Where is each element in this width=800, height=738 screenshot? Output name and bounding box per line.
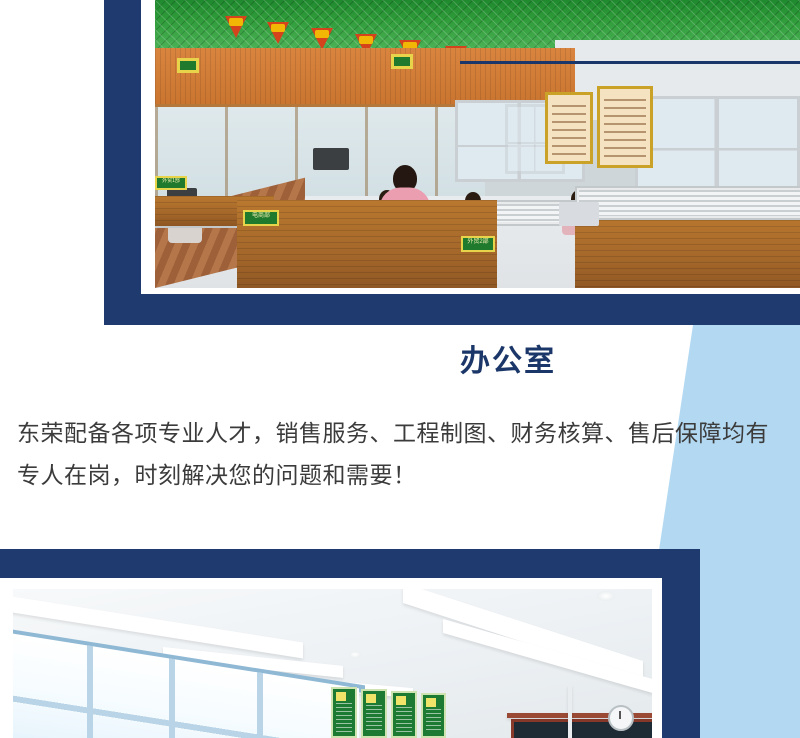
ceiling-downlight	[597, 591, 615, 601]
office-section-page: 电商部 外贸2部 外贸1部 办公室 东荣配备各项专业人才，销售服务、工程制图、财…	[0, 0, 800, 738]
paper-stack	[559, 202, 599, 226]
notice-board	[331, 687, 357, 738]
section-title: 办公室	[460, 345, 800, 378]
photo-frame-bottom: Glass bq's	[0, 578, 662, 738]
wall-poster	[545, 92, 593, 164]
cubicle-partition	[575, 186, 800, 220]
ceiling-downlight	[349, 651, 361, 658]
notice-board	[361, 689, 387, 738]
office-photo-top: 电商部 外贸2部 外贸1部	[155, 0, 800, 288]
wooden-desk	[575, 214, 800, 288]
notice-board	[391, 691, 417, 738]
door-sign	[177, 58, 199, 73]
bunting-flag	[225, 16, 247, 38]
bunting-flag	[267, 22, 289, 44]
section-body-text: 东荣配备各项专业人才，销售服务、工程制图、财务核算、售后保障均有专人在岗，时刻解…	[17, 412, 792, 496]
door-sign	[391, 54, 413, 69]
notice-board	[421, 693, 446, 738]
department-sign-ecommerce: 电商部	[243, 210, 279, 226]
heading-underline-rule	[460, 61, 800, 64]
caption-block: 办公室 东荣配备各项专业人才，销售服务、工程制图、财务核算、售后保障均有专人在岗…	[0, 325, 800, 550]
department-sign-foreign-trade-1: 外贸1部	[155, 176, 187, 190]
heading-row: 办公室	[460, 345, 800, 378]
photo-frame-top: 电商部 外贸2部 外贸1部	[141, 0, 800, 293]
office-photo-bottom: Glass bq's	[13, 589, 652, 738]
wall-clock	[608, 705, 634, 731]
monitor	[313, 148, 349, 170]
decorative-blue-panel-lower	[700, 549, 800, 738]
navy-accent-bar-left	[104, 0, 141, 325]
bunting-flag	[311, 28, 333, 50]
wall-poster	[597, 86, 653, 168]
navy-accent-bar-top	[104, 294, 800, 325]
department-sign-foreign-trade-2: 外贸2部	[461, 236, 495, 252]
wall-column	[568, 685, 572, 738]
window	[635, 96, 800, 191]
